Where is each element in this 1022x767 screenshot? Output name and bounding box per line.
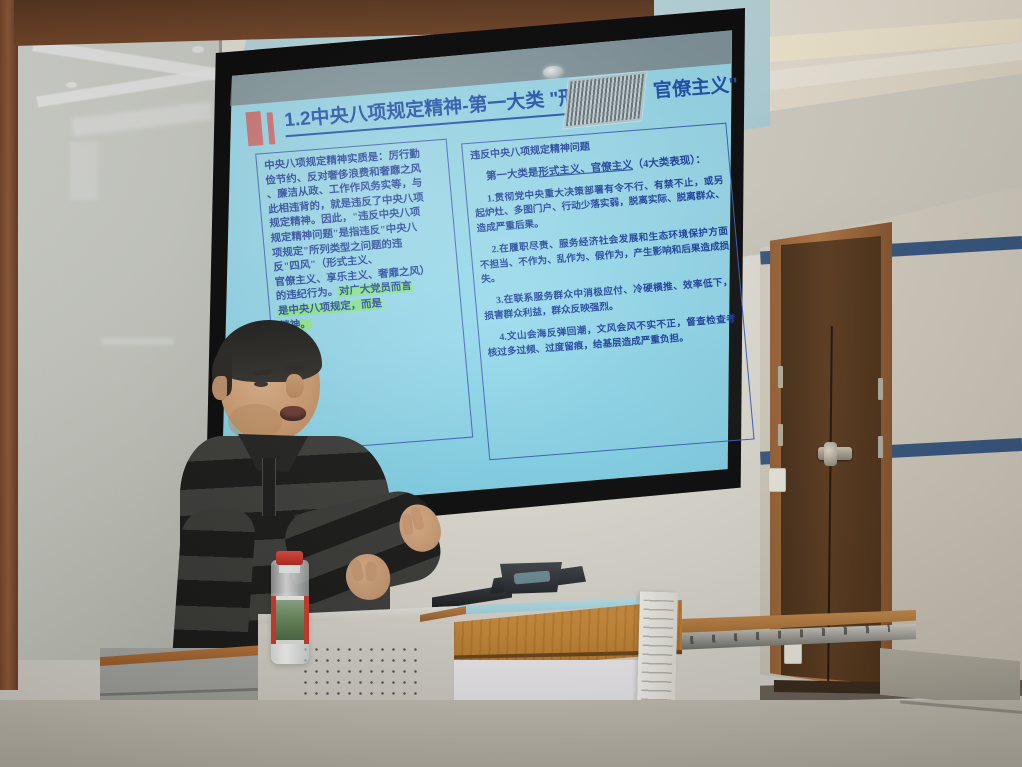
slide-right-textbox: 违反中央八项规定精神问题 第一大类是形式主义、官僚主义（4大类表现）： 1.贯彻…	[461, 123, 754, 461]
door-hinge	[778, 366, 783, 388]
door-hinge	[878, 378, 883, 400]
mouth	[280, 406, 306, 421]
right-box-subheading-suffix: （4大类表现）：	[632, 154, 706, 171]
ceiling-air-vent-icon	[564, 72, 647, 129]
right-box-subheading-underlined: 形式主义、官僚主义	[538, 160, 633, 178]
wall-outlet-upper[interactable]	[768, 468, 786, 492]
nose	[286, 374, 304, 398]
floor	[0, 700, 1022, 767]
finger	[365, 561, 377, 581]
bottle-label-stripe-right	[304, 596, 309, 644]
slide-accent-bar-large	[245, 111, 263, 146]
right-box-subheading-prefix: 第一大类是	[486, 168, 539, 183]
door-hinge	[778, 424, 783, 446]
finger	[349, 558, 365, 582]
shirt-placket	[262, 458, 276, 516]
slide-title: 1.2中央八项规定精神-第一大类 "形式主义、官僚主义"	[283, 71, 724, 132]
door-lock-knob[interactable]	[824, 442, 837, 466]
ear	[212, 376, 227, 400]
bottle-cap	[276, 551, 303, 565]
lecture-room-photo: 1.2中央八项规定精神-第一大类 "形式主义、官僚主义" 中央八项规定精神实质是…	[0, 0, 1022, 767]
bottle-label-stripe-left	[271, 596, 276, 644]
door-threshold	[774, 680, 894, 694]
bottle-label-artwork	[275, 600, 305, 640]
slide-accent-bar-small	[267, 112, 276, 144]
eye-left	[254, 381, 268, 387]
wall-wood-trim-left	[0, 0, 18, 690]
door-hinge	[878, 436, 883, 458]
